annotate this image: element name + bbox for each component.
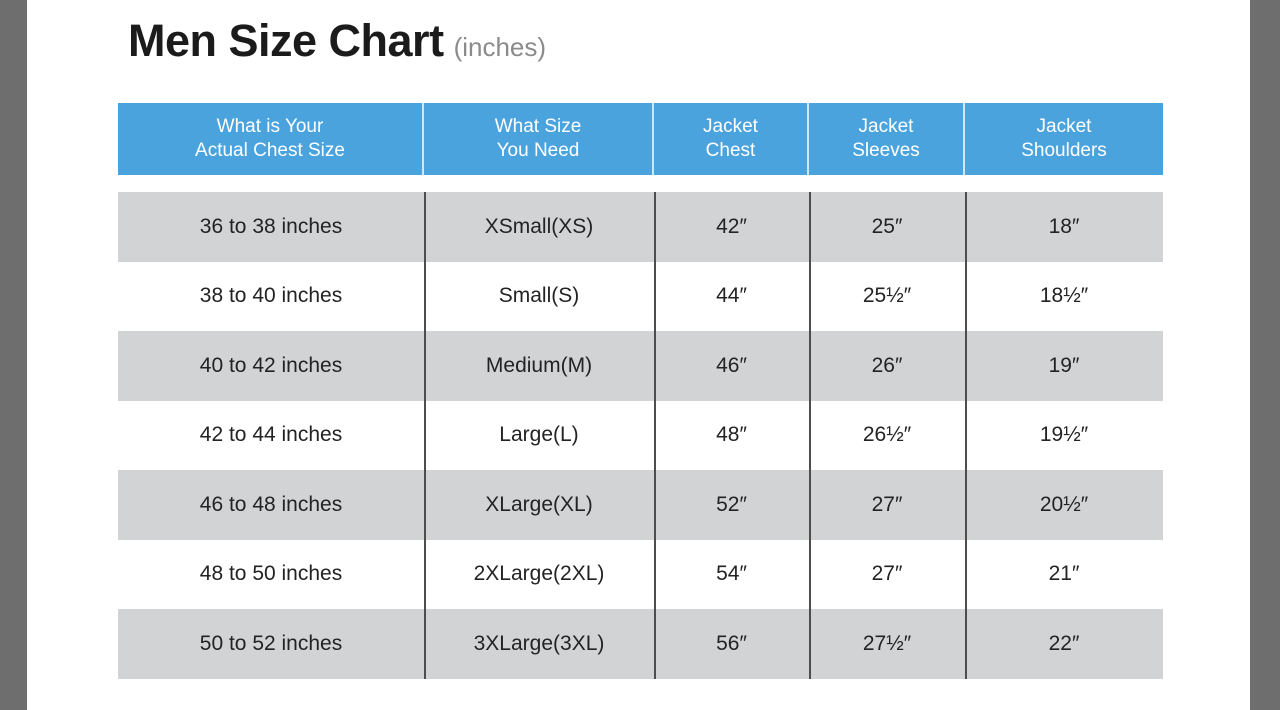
column-header-jacket-sleeves: Jacket Sleeves <box>809 103 965 175</box>
cell-jacket-sleeves: 27″ <box>809 470 965 540</box>
cell-jacket-sleeves: 27″ <box>809 540 965 610</box>
table-row: 46 to 48 inches XLarge(XL) 52″ 27″ 20½″ <box>118 470 1163 540</box>
cell-actual-chest-size: 38 to 40 inches <box>118 262 424 332</box>
cell-size-needed: 2XLarge(2XL) <box>424 540 654 610</box>
column-header-line1: Jacket <box>1037 115 1092 139</box>
cell-size-needed: XLarge(XL) <box>424 470 654 540</box>
column-header-line1: Jacket <box>859 115 914 139</box>
cell-jacket-sleeves: 25″ <box>809 192 965 262</box>
cell-jacket-shoulders: 20½″ <box>965 470 1163 540</box>
cell-actual-chest-size: 40 to 42 inches <box>118 331 424 401</box>
column-header-line2: Chest <box>706 139 756 163</box>
page-title: Men Size Chart (inches) <box>128 18 546 63</box>
cell-actual-chest-size: 48 to 50 inches <box>118 540 424 610</box>
cell-jacket-chest: 52″ <box>654 470 809 540</box>
cell-actual-chest-size: 42 to 44 inches <box>118 401 424 471</box>
column-header-jacket-chest: Jacket Chest <box>654 103 809 175</box>
cell-jacket-chest: 48″ <box>654 401 809 471</box>
table-header-row: What is Your Actual Chest Size What Size… <box>118 103 1163 175</box>
column-header-jacket-shoulders: Jacket Shoulders <box>965 103 1163 175</box>
table-row: 40 to 42 inches Medium(M) 46″ 26″ 19″ <box>118 331 1163 401</box>
cell-jacket-sleeves: 25½″ <box>809 262 965 332</box>
cell-jacket-shoulders: 22″ <box>965 609 1163 679</box>
cell-jacket-chest: 42″ <box>654 192 809 262</box>
table-row: 50 to 52 inches 3XLarge(3XL) 56″ 27½″ 22… <box>118 609 1163 679</box>
page-title-units: (inches) <box>454 34 546 60</box>
table-row: 48 to 50 inches 2XLarge(2XL) 54″ 27″ 21″ <box>118 540 1163 610</box>
column-header-size-needed: What Size You Need <box>424 103 654 175</box>
page-title-main: Men Size Chart <box>128 18 444 63</box>
cell-size-needed: Medium(M) <box>424 331 654 401</box>
cell-size-needed: XSmall(XS) <box>424 192 654 262</box>
letterbox-left <box>0 0 27 710</box>
cell-actual-chest-size: 46 to 48 inches <box>118 470 424 540</box>
cell-jacket-sleeves: 27½″ <box>809 609 965 679</box>
cell-jacket-chest: 54″ <box>654 540 809 610</box>
cell-jacket-shoulders: 19½″ <box>965 401 1163 471</box>
column-header-line1: What is Your <box>217 115 324 139</box>
cell-jacket-shoulders: 18½″ <box>965 262 1163 332</box>
cell-jacket-shoulders: 19″ <box>965 331 1163 401</box>
cell-jacket-shoulders: 18″ <box>965 192 1163 262</box>
table-row: 36 to 38 inches XSmall(XS) 42″ 25″ 18″ <box>118 192 1163 262</box>
cell-jacket-shoulders: 21″ <box>965 540 1163 610</box>
cell-actual-chest-size: 50 to 52 inches <box>118 609 424 679</box>
size-chart-table: What is Your Actual Chest Size What Size… <box>118 103 1163 679</box>
cell-size-needed: Large(L) <box>424 401 654 471</box>
cell-size-needed: 3XLarge(3XL) <box>424 609 654 679</box>
column-header-line2: Actual Chest Size <box>195 139 345 163</box>
slide-canvas: Men Size Chart (inches) What is Your Act… <box>27 0 1250 710</box>
column-header-line2: Shoulders <box>1021 139 1107 163</box>
column-header-line2: You Need <box>497 139 580 163</box>
cell-size-needed: Small(S) <box>424 262 654 332</box>
cell-jacket-chest: 56″ <box>654 609 809 679</box>
cell-jacket-chest: 44″ <box>654 262 809 332</box>
table-row: 42 to 44 inches Large(L) 48″ 26½″ 19½″ <box>118 401 1163 471</box>
table-row: 38 to 40 inches Small(S) 44″ 25½″ 18½″ <box>118 262 1163 332</box>
letterbox-right <box>1250 0 1280 710</box>
column-header-line2: Sleeves <box>852 139 920 163</box>
column-header-actual-chest-size: What is Your Actual Chest Size <box>118 103 424 175</box>
cell-jacket-sleeves: 26″ <box>809 331 965 401</box>
cell-jacket-sleeves: 26½″ <box>809 401 965 471</box>
cell-jacket-chest: 46″ <box>654 331 809 401</box>
cell-actual-chest-size: 36 to 38 inches <box>118 192 424 262</box>
column-header-line1: Jacket <box>703 115 758 139</box>
column-header-line1: What Size <box>495 115 582 139</box>
